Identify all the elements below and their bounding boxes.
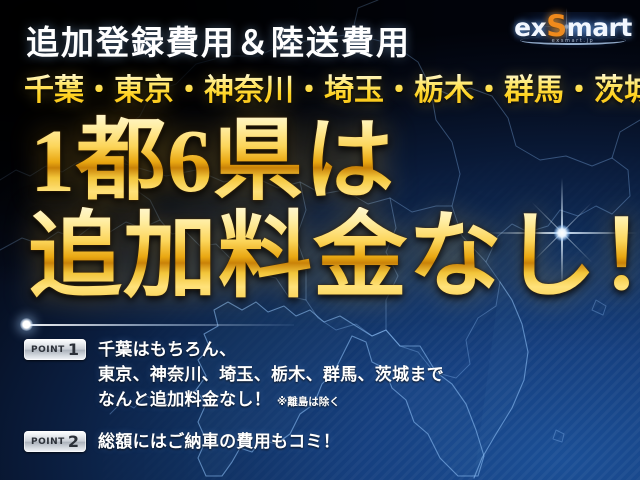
point-item-1: POINT 1 千葉はもちろん、 東京、神奈川、埼玉、栃木、群馬、茨城まで なん…	[24, 338, 444, 415]
divider-dot-icon	[20, 318, 33, 331]
point-1-line-2: 東京、神奈川、埼玉、栃木、群馬、茨城まで	[98, 363, 444, 388]
point-badge-label: POINT	[31, 345, 65, 355]
headline-subtitle-1: 追加登録費用＆陸送費用	[26, 24, 411, 64]
point-text-1: 千葉はもちろん、 東京、神奈川、埼玉、栃木、群馬、茨城まで なんと追加料金なし！…	[98, 338, 444, 415]
exsmart-logo[interactable]: exSmart exsmart.jp	[514, 12, 632, 48]
point-1-line-3: なんと追加料金なし！	[98, 390, 271, 410]
headline-main-1: 1都6県は	[30, 113, 395, 211]
point-badge-number: 1	[68, 342, 79, 358]
section-divider	[26, 324, 294, 326]
point-1-line-3-wrap: なんと追加料金なし！※離島は除く	[98, 388, 444, 415]
point-1-line-1: 千葉はもちろん、	[98, 338, 444, 363]
point-badge-1: POINT 1	[24, 339, 86, 360]
point-item-2: POINT 2 総額にはご納車の費用もコミ！	[24, 430, 340, 455]
logo-swoosh-icon	[520, 36, 626, 45]
promo-banner: exSmart exsmart.jp 追加登録費用＆陸送費用 千葉・東京・神奈川…	[0, 0, 640, 480]
point-2-line-1: 総額にはご納車の費用もコミ！	[98, 430, 340, 455]
point-badge-number: 2	[68, 434, 79, 450]
point-badge-label: POINT	[31, 437, 65, 447]
headline-subtitle-2: 千葉・東京・神奈川・埼玉・栃木・群馬・茨城の	[24, 72, 640, 110]
point-1-note: ※離島は除く	[277, 396, 340, 408]
point-text-2: 総額にはご納車の費用もコミ！	[98, 430, 340, 455]
point-badge-2: POINT 2	[24, 431, 86, 452]
headline-main-2: 追加料金なし！	[28, 207, 640, 307]
